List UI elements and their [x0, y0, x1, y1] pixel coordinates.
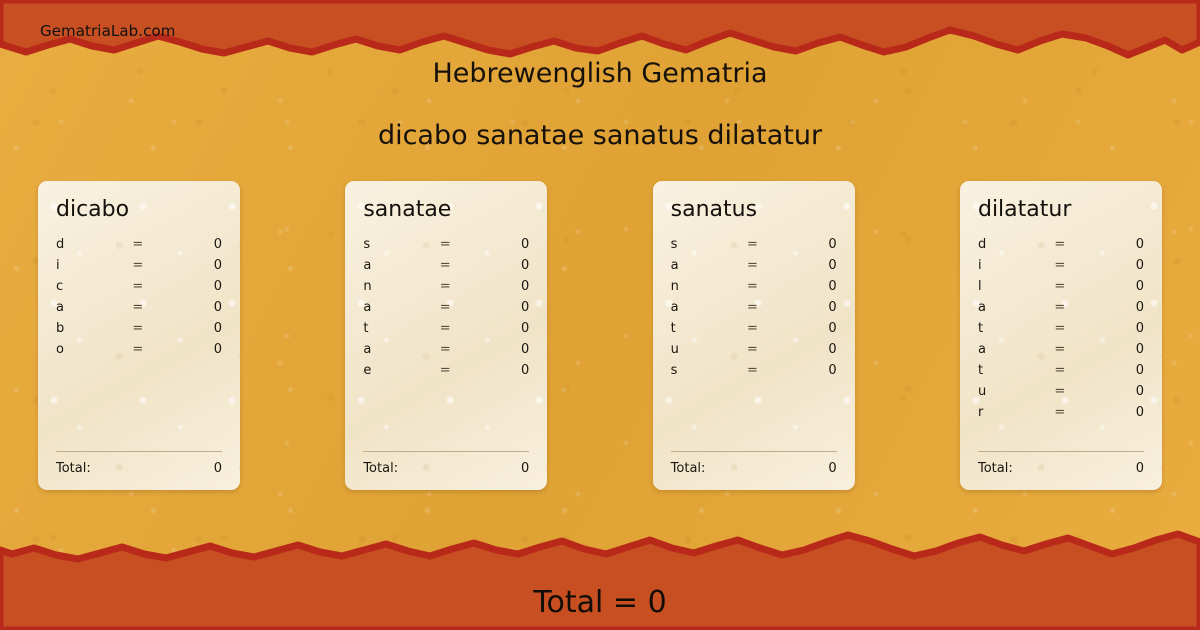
equals-sign: = [440, 258, 470, 273]
letter: a [978, 300, 1054, 315]
equals-sign: = [132, 237, 162, 252]
letter-value: 0 [1084, 321, 1144, 336]
letter-value: 0 [777, 279, 837, 294]
letter: a [363, 342, 439, 357]
card-total-row: Total: 0 [671, 461, 837, 476]
letter: r [978, 405, 1054, 420]
letter-row: n = 0 [363, 279, 529, 300]
equals-sign: = [132, 342, 162, 357]
card-total-value: 0 [214, 461, 222, 476]
letter: a [671, 258, 747, 273]
letter: n [363, 279, 439, 294]
letter-row: d = 0 [978, 237, 1144, 258]
letter-value: 0 [1084, 384, 1144, 399]
equals-sign: = [1054, 279, 1084, 294]
letter: t [363, 321, 439, 336]
letter: c [56, 279, 132, 294]
letter-value: 0 [1084, 258, 1144, 273]
letter: e [363, 363, 439, 378]
equals-sign: = [1054, 321, 1084, 336]
letter: d [978, 237, 1054, 252]
equals-sign: = [747, 237, 777, 252]
card-total-label: Total: [363, 461, 398, 476]
letter: a [978, 342, 1054, 357]
letter: d [56, 237, 132, 252]
letter-value: 0 [1084, 342, 1144, 357]
letter: i [56, 258, 132, 273]
letter-value: 0 [777, 258, 837, 273]
card-total-label: Total: [978, 461, 1013, 476]
letter-value: 0 [470, 279, 530, 294]
letter-row: t = 0 [978, 321, 1144, 342]
letter-value: 0 [162, 342, 222, 357]
equals-sign: = [747, 279, 777, 294]
letter-row: t = 0 [363, 321, 529, 342]
letter-row: s = 0 [363, 237, 529, 258]
letter-rows: d = 0 i = 0 c = 0 a = 0 [56, 237, 222, 445]
equals-sign: = [1054, 300, 1084, 315]
gematria-poster: GematriaLab.com Hebrewenglish Gematria d… [0, 0, 1200, 630]
letter-value: 0 [470, 342, 530, 357]
letter-value: 0 [777, 321, 837, 336]
letter: u [978, 384, 1054, 399]
card-total-row: Total: 0 [363, 461, 529, 476]
letter: u [671, 342, 747, 357]
equals-sign: = [747, 342, 777, 357]
letter-value: 0 [470, 321, 530, 336]
equals-sign: = [1054, 258, 1084, 273]
letter-value: 0 [777, 237, 837, 252]
letter: s [363, 237, 439, 252]
letter-value: 0 [1084, 300, 1144, 315]
letter-row: u = 0 [978, 384, 1144, 405]
equals-sign: = [440, 342, 470, 357]
equals-sign: = [1054, 237, 1084, 252]
card-total-value: 0 [828, 461, 836, 476]
equals-sign: = [747, 258, 777, 273]
letter: o [56, 342, 132, 357]
card-total-label: Total: [671, 461, 706, 476]
letter-row: o = 0 [56, 342, 222, 363]
equals-sign: = [440, 237, 470, 252]
card-word-title: sanatus [671, 199, 837, 221]
letter: l [978, 279, 1054, 294]
equals-sign: = [132, 279, 162, 294]
card-word-title: sanatae [363, 199, 529, 221]
letter: t [671, 321, 747, 336]
card-total-row: Total: 0 [978, 461, 1144, 476]
letter-value: 0 [470, 300, 530, 315]
letter-row: a = 0 [978, 342, 1144, 363]
letter-row: a = 0 [671, 258, 837, 279]
letter-value: 0 [777, 300, 837, 315]
letter-row: n = 0 [671, 279, 837, 300]
letter: a [363, 258, 439, 273]
equals-sign: = [132, 258, 162, 273]
letter-row: i = 0 [56, 258, 222, 279]
letter-rows: s = 0 a = 0 n = 0 a = 0 [671, 237, 837, 445]
card-word-title: dicabo [56, 199, 222, 221]
equals-sign: = [440, 321, 470, 336]
equals-sign: = [1054, 405, 1084, 420]
letter-row: t = 0 [671, 321, 837, 342]
letter-value: 0 [162, 258, 222, 273]
letter-rows: s = 0 a = 0 n = 0 a = 0 [363, 237, 529, 445]
equals-sign: = [747, 321, 777, 336]
letter-value: 0 [1084, 405, 1144, 420]
letter-value: 0 [162, 300, 222, 315]
equals-sign: = [1054, 384, 1084, 399]
equals-sign: = [440, 279, 470, 294]
letter-value: 0 [470, 237, 530, 252]
equals-sign: = [747, 363, 777, 378]
letter-row: b = 0 [56, 321, 222, 342]
letter-row: l = 0 [978, 279, 1144, 300]
letter-row: s = 0 [671, 363, 837, 384]
letter-row: d = 0 [56, 237, 222, 258]
letter: a [56, 300, 132, 315]
word-card: dilatatur d = 0 i = 0 l = 0 a [960, 181, 1162, 490]
letter-value: 0 [470, 258, 530, 273]
equals-sign: = [1054, 342, 1084, 357]
letter-row: e = 0 [363, 363, 529, 384]
card-total-value: 0 [1136, 461, 1144, 476]
letter-value: 0 [1084, 279, 1144, 294]
page-title: Hebrewenglish Gematria [0, 58, 1200, 89]
word-card: sanatae s = 0 a = 0 n = 0 a [345, 181, 547, 490]
letter: b [56, 321, 132, 336]
letter-value: 0 [777, 363, 837, 378]
equals-sign: = [1054, 363, 1084, 378]
letter-row: r = 0 [978, 405, 1144, 426]
card-divider [56, 451, 222, 452]
equals-sign: = [132, 300, 162, 315]
letter-row: a = 0 [363, 342, 529, 363]
letter-row: i = 0 [978, 258, 1144, 279]
letter-row: a = 0 [363, 300, 529, 321]
letter: a [363, 300, 439, 315]
letter: a [671, 300, 747, 315]
letter: s [671, 237, 747, 252]
site-logo[interactable]: GematriaLab.com [40, 22, 175, 40]
letter: s [671, 363, 747, 378]
letter-value: 0 [1084, 363, 1144, 378]
letter-row: c = 0 [56, 279, 222, 300]
card-word-title: dilatatur [978, 199, 1144, 221]
word-cards-container: dicabo d = 0 i = 0 c = 0 a [38, 181, 1162, 490]
card-total-value: 0 [521, 461, 529, 476]
card-divider [978, 451, 1144, 452]
phrase-heading: dicabo sanatae sanatus dilatatur [0, 120, 1200, 151]
letter: i [978, 258, 1054, 273]
letter-value: 0 [162, 321, 222, 336]
letter-row: a = 0 [978, 300, 1144, 321]
letter: t [978, 363, 1054, 378]
word-card: sanatus s = 0 a = 0 n = 0 a [653, 181, 855, 490]
letter-row: s = 0 [671, 237, 837, 258]
equals-sign: = [440, 363, 470, 378]
letter-row: a = 0 [363, 258, 529, 279]
letter-value: 0 [162, 237, 222, 252]
letter-row: u = 0 [671, 342, 837, 363]
letter-row: t = 0 [978, 363, 1144, 384]
letter-value: 0 [470, 363, 530, 378]
letter-value: 0 [777, 342, 837, 357]
card-divider [671, 451, 837, 452]
letter: t [978, 321, 1054, 336]
letter-value: 0 [1084, 237, 1144, 252]
word-card: dicabo d = 0 i = 0 c = 0 a [38, 181, 240, 490]
letter-value: 0 [162, 279, 222, 294]
letter-row: a = 0 [671, 300, 837, 321]
card-divider [363, 451, 529, 452]
card-total-row: Total: 0 [56, 461, 222, 476]
equals-sign: = [747, 300, 777, 315]
letter: n [671, 279, 747, 294]
grand-total: Total = 0 [0, 585, 1200, 620]
equals-sign: = [132, 321, 162, 336]
card-total-label: Total: [56, 461, 91, 476]
letter-row: a = 0 [56, 300, 222, 321]
equals-sign: = [440, 300, 470, 315]
letter-rows: d = 0 i = 0 l = 0 a = 0 [978, 237, 1144, 445]
